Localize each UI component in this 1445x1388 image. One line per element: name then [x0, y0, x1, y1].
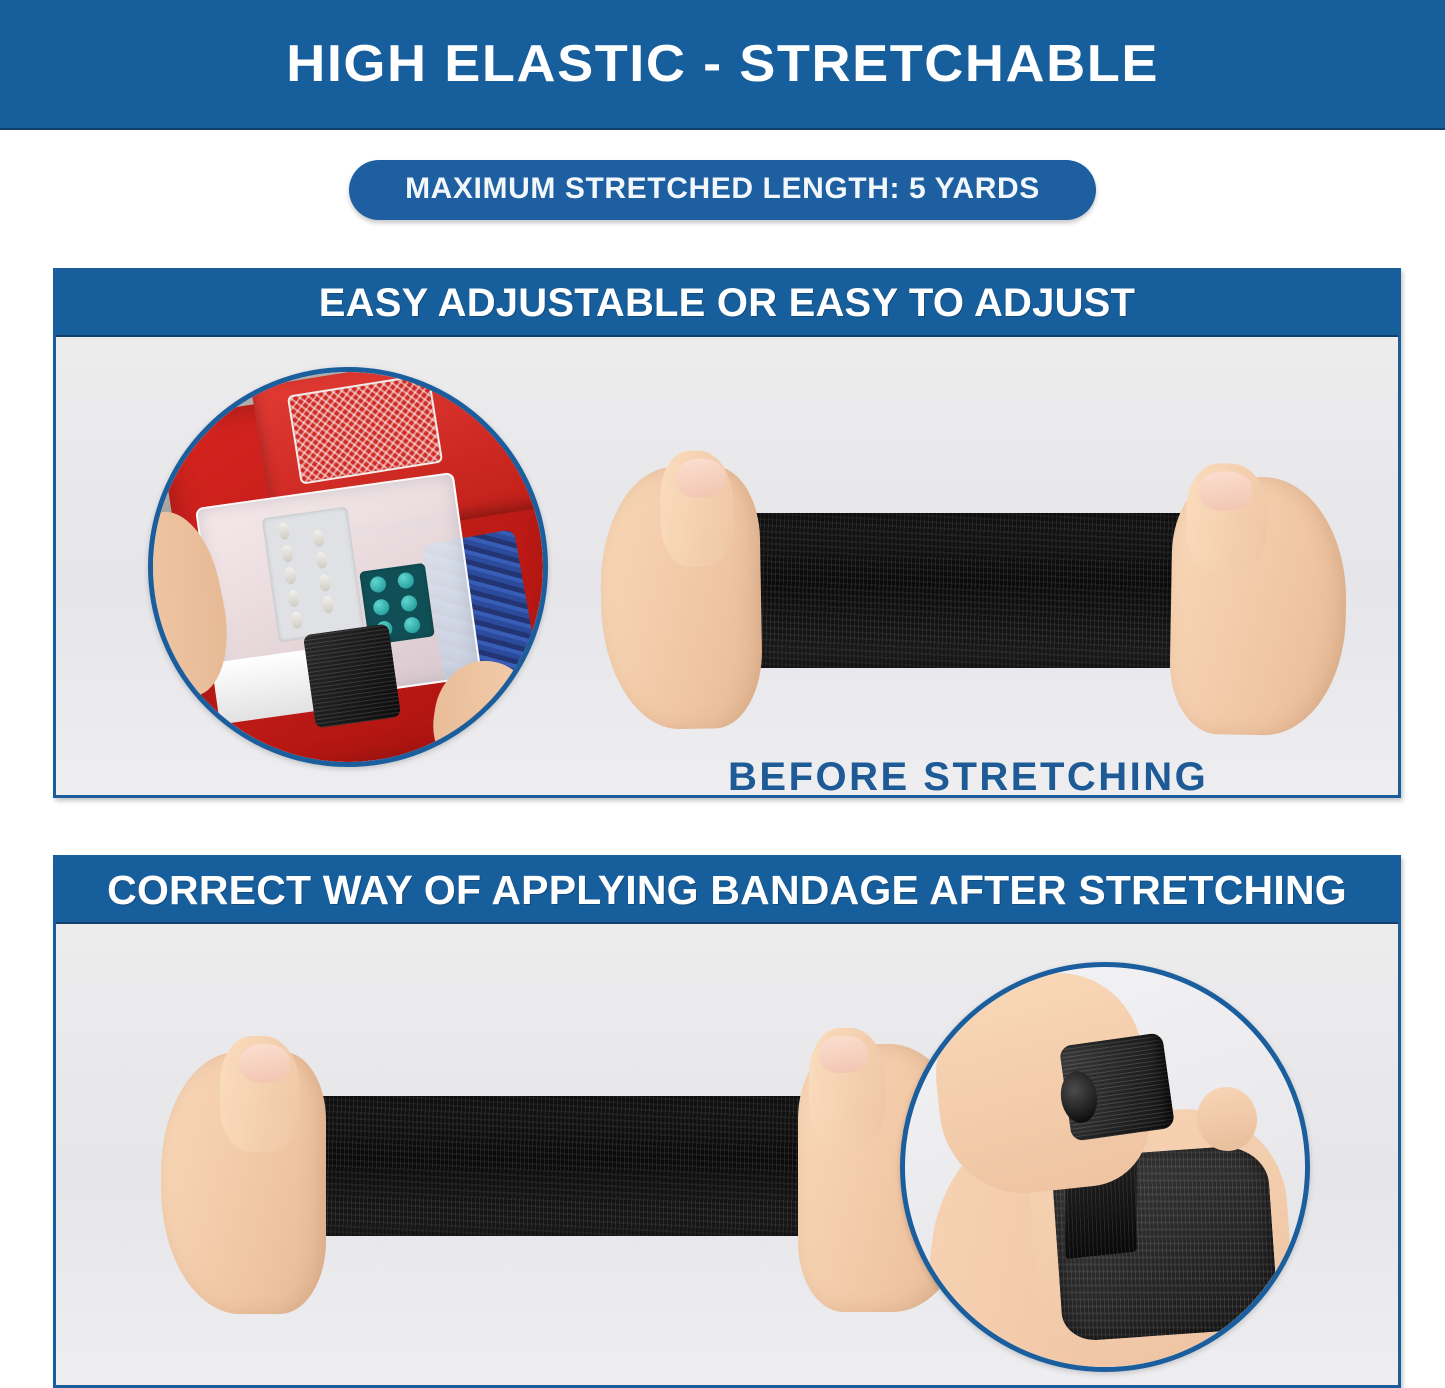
before-stretching-label: BEFORE STRETCHING — [728, 757, 1208, 797]
max-length-badge: MAXIMUM STRETCHED LENGTH: 5 YARDS — [349, 160, 1096, 220]
wrist-wrapping-photo-content — [905, 967, 1305, 1367]
right-hand-gripping-bandage — [1169, 475, 1348, 736]
wrist-wrapping-photo — [900, 962, 1310, 1372]
panel-title: CORRECT WAY OF APPLYING BANDAGE AFTER ST… — [107, 870, 1347, 911]
subtitle-pill-container: MAXIMUM STRETCHED LENGTH: 5 YARDS — [0, 160, 1445, 220]
stretched-bandage-strip — [281, 1096, 826, 1236]
max-length-label: MAXIMUM STRETCHED LENGTH: 5 YARDS — [405, 173, 1040, 205]
pill-blister-pack-1 — [262, 507, 364, 643]
panel-title: EASY ADJUSTABLE OR EASY TO ADJUST — [319, 283, 1135, 323]
panel-header-correct-way: CORRECT WAY OF APPLYING BANDAGE AFTER ST… — [56, 858, 1398, 924]
thumbnail — [1199, 471, 1252, 511]
thumbnail — [240, 1044, 290, 1083]
first-aid-kit-photo-content — [153, 372, 543, 762]
black-bandage-roll — [303, 624, 401, 729]
unstretched-bandage-strip — [716, 513, 1191, 668]
panel-header-easy-adjustable: EASY ADJUSTABLE OR EASY TO ADJUST — [56, 271, 1398, 337]
thumbnail — [819, 1036, 868, 1074]
left-hand-gripping-bandage — [599, 466, 764, 731]
page-title: HIGH ELASTIC - STRETCHABLE — [286, 38, 1159, 90]
panel-easy-adjustable: EASY ADJUSTABLE OR EASY TO ADJUST — [53, 268, 1401, 798]
thumbnail — [677, 458, 726, 498]
top-banner: HIGH ELASTIC - STRETCHABLE — [0, 0, 1445, 128]
left-hand-gripping-bandage — [161, 1052, 326, 1314]
first-aid-kit-photo — [148, 367, 548, 767]
panel-body-correct-way — [56, 924, 1398, 1385]
panel-correct-way-applying: CORRECT WAY OF APPLYING BANDAGE AFTER ST… — [53, 855, 1401, 1388]
panel-body-easy-adjustable: BEFORE STRETCHING — [56, 337, 1398, 795]
